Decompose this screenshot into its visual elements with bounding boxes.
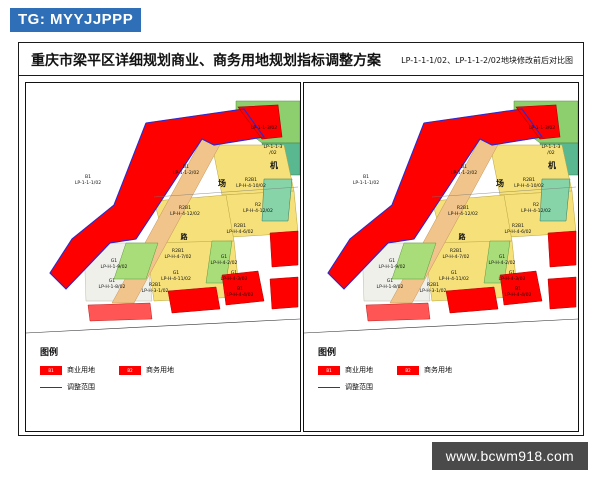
legend-label-b1: 商业用地 (345, 365, 373, 375)
map-parcel-label: R2LP-H-4-12/02 (514, 203, 558, 214)
map-parcel-label: LP-1-1-3/02 (520, 126, 564, 132)
panel-container: 修改前 (19, 76, 583, 434)
legend-row-boundary: 调整范围 (318, 382, 564, 392)
panel-before[interactable]: 修改前 (25, 82, 301, 432)
map-parcel-label: R2B1LP-H-4-10/02 (229, 178, 273, 189)
legend-row-commercial: B1 商业用地 B2 商务用地 (40, 365, 286, 375)
map-parcel-label: G1LP-H-4-2/02 (480, 255, 524, 266)
legend-title: 图例 (318, 345, 564, 358)
map-parcel-label: R2B1LP-H-4-12/02 (163, 206, 207, 217)
map-parcel-label: B1LP-1-1-2/02 (442, 165, 486, 176)
map-before[interactable]: B1LP-1-1-1/02B1LP-1-1-2/02LP-1-1-3/02LP-… (26, 83, 300, 341)
map-parcel-label: B1LP-1-1-2/02 (164, 165, 208, 176)
map-parcel-label: G1LP-H-1-8/02 (368, 279, 412, 290)
tg-badge: TG: MYYJJPPP (10, 8, 141, 32)
legend-label-boundary: 调整范围 (67, 382, 95, 392)
map-parcel-label: 路 (162, 233, 206, 242)
legend-row-commercial: B1 商业用地 B2 商务用地 (318, 365, 564, 375)
map-parcel-label: R2B1LP-H-4-6/02 (218, 224, 262, 235)
map-parcel-label: G1LP-H-1-9/02 (370, 259, 414, 270)
map-parcel-label: LP-1-1-3/02 (251, 145, 295, 156)
map-parcel-label: G1LP-H-4-3/02 (212, 271, 256, 282)
legend-label-b2: 商务用地 (424, 365, 452, 375)
legend-label-b1: 商业用地 (67, 365, 95, 375)
watermark: www.bcwm918.com (432, 442, 588, 470)
map-parcel-label: R2B1LP-H-3-1/02 (133, 283, 177, 294)
legend-after: 图例 B1 商业用地 B2 商务用地 调整范围 (318, 345, 564, 423)
map-parcel-label: B1LP-H-4-4/02 (496, 287, 540, 298)
map-parcel-label: R2B1LP-H-4-7/02 (434, 249, 478, 260)
panel-after[interactable]: 修改后 (303, 82, 579, 432)
map-parcel-label: R2B1LP-H-4-12/02 (441, 206, 485, 217)
legend-before: 图例 B1 商业用地 B2 商务用地 调整范围 (40, 345, 286, 423)
legend-swatch-boundary (40, 387, 62, 388)
legend-swatch-b1: B1 (318, 366, 340, 375)
legend-swatch-b2: B2 (119, 366, 141, 375)
map-parcel-label: LP-1-1-3/02 (529, 145, 573, 156)
sheet-header: 重庆市梁平区详细规划商业、商务用地规划指标调整方案 LP-1-1-1/02、LP… (19, 43, 583, 76)
legend-label-b2: 商务用地 (146, 365, 174, 375)
map-parcel-label: R2B1LP-H-4-6/02 (496, 224, 540, 235)
map-parcel-label: G1LP-H-1-9/02 (92, 259, 136, 270)
map-parcel-label: G1LP-H-4-11/02 (432, 271, 476, 282)
map-parcel-label: 机 (252, 161, 296, 171)
map-parcel-label: R2B1LP-H-4-10/02 (507, 178, 551, 189)
page-title: 重庆市梁平区详细规划商业、商务用地规划指标调整方案 (31, 50, 381, 70)
map-parcel-label: G1LP-H-1-8/02 (90, 279, 134, 290)
map-parcel-label: 路 (440, 233, 484, 242)
legend-title: 图例 (40, 345, 286, 358)
legend-swatch-b2: B2 (397, 366, 419, 375)
map-parcel-label: 机 (530, 161, 574, 171)
map-parcel-label: B1LP-H-4-4/02 (218, 287, 262, 298)
legend-swatch-boundary (318, 387, 340, 388)
map-after[interactable]: B1LP-1-1-1/02B1LP-1-1-2/02LP-1-1-3/02LP-… (304, 83, 578, 341)
legend-row-boundary: 调整范围 (40, 382, 286, 392)
legend-label-boundary: 调整范围 (345, 382, 373, 392)
map-parcel-label: R2LP-H-4-12/02 (236, 203, 280, 214)
legend-swatch-b1: B1 (40, 366, 62, 375)
map-parcel-label: G1LP-H-4-11/02 (154, 271, 198, 282)
plan-sheet: 重庆市梁平区详细规划商业、商务用地规划指标调整方案 LP-1-1-1/02、LP… (18, 42, 584, 436)
map-parcel-label: R2B1LP-H-4-7/02 (156, 249, 200, 260)
map-parcel-label: G1LP-H-4-3/02 (490, 271, 534, 282)
map-parcel-label: B1LP-1-1-1/02 (66, 175, 110, 186)
map-parcel-label: B1LP-1-1-1/02 (344, 175, 388, 186)
map-parcel-label: R2B1LP-H-3-1/02 (411, 283, 455, 294)
map-parcel-label: G1LP-H-4-2/02 (202, 255, 246, 266)
map-parcel-label: LP-1-1-3/02 (242, 126, 286, 132)
sheet-subtitle: LP-1-1-1/02、LP-1-1-2/02地块修改前后对比图 (401, 55, 573, 66)
